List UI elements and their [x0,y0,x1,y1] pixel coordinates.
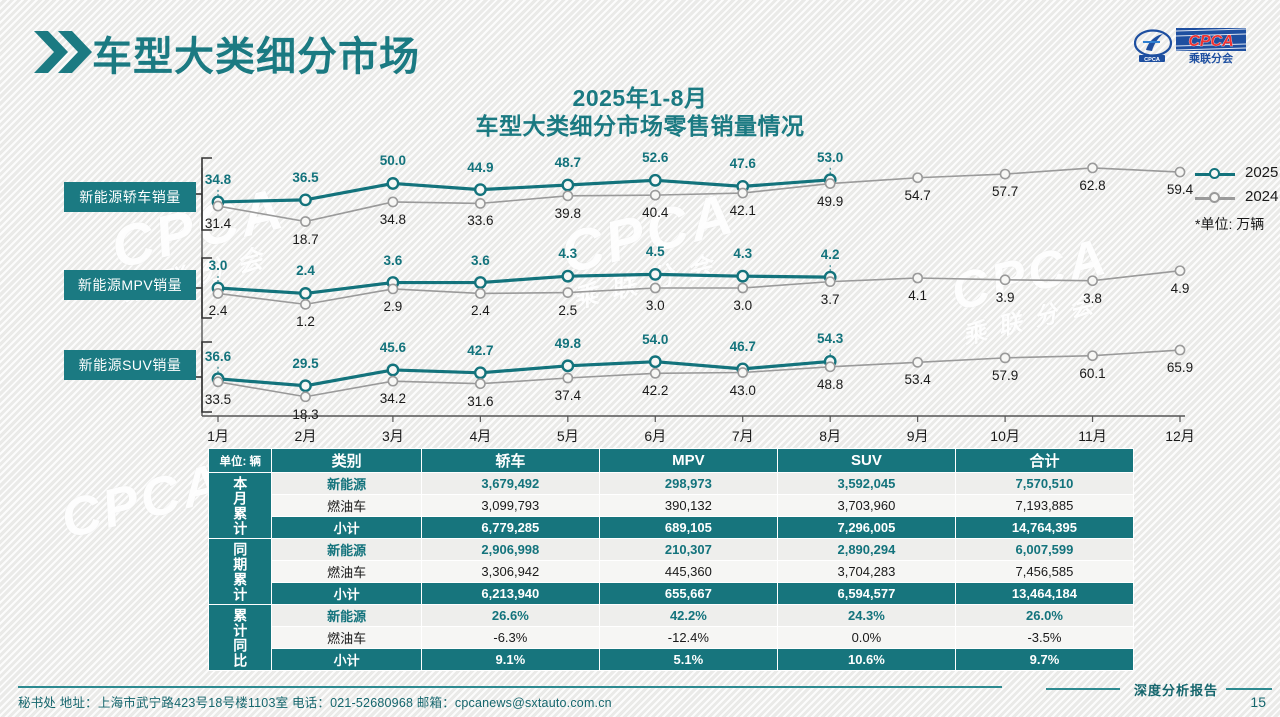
data-label-2024: 42.1 [730,203,756,218]
x-axis-tick-label: 1月 [207,426,229,446]
table-cell-value: 26.0% [955,605,1133,627]
table-col-total: 合计 [955,449,1133,473]
x-axis-tick-label: 7月 [732,426,754,446]
page-number: 15 [1250,694,1266,710]
table-cell-value: 3,592,045 [777,473,955,495]
table-cell-value: 9.1% [421,649,599,671]
page-header: 车型大类细分市场 CPCA CPCA 乘联分会 [0,0,1280,86]
data-label-2024: 54.7 [904,188,930,203]
data-label-2025: 50.0 [380,153,406,168]
legend-item-2025: 2025 [1195,162,1280,186]
table-col-category: 类别 [272,449,421,473]
legend-marker-2025 [1209,168,1220,179]
data-label-2025: 42.7 [467,343,493,358]
data-label-2025: 48.7 [555,155,581,170]
table-col-sedan: 轿车 [421,449,599,473]
multi-panel-line-chart: 新能源轿车销量 新能源MPV销量 新能源SUV销量 2025 2024 *单位:… [60,150,1220,440]
data-label-2024: 18.7 [292,232,318,247]
table-cell-value: 3,704,283 [777,561,955,583]
data-label-2025: 52.6 [642,150,668,165]
data-label-2024: 31.6 [467,394,493,409]
table-cell-value: 390,132 [599,495,777,517]
table-row: 燃油车3,306,942445,3603,704,2837,456,585 [209,561,1134,583]
data-label-2025: 34.8 [205,172,231,187]
data-label-2025: 45.6 [380,340,406,355]
cpca-logo-wordmark: CPCA 乘联分会 [1176,27,1246,64]
table-cell-value: 14,764,395 [955,517,1133,539]
table-cell-value: 2,906,998 [421,539,599,561]
table-cell-value: 6,779,285 [421,517,599,539]
table-row: 燃油车3,099,793390,1323,703,9607,193,885 [209,495,1134,517]
data-label-2024: 53.4 [904,372,930,387]
data-label-2024: 59.4 [1167,182,1193,197]
chart-unit-note: *单位: 万辆 [1195,214,1264,234]
table-cell-value: 7,456,585 [955,561,1133,583]
panel-label-sedan: 新能源轿车销量 [64,182,196,212]
data-label-2024: 3.0 [733,298,752,313]
table-group-label: 同期累计 [209,539,272,605]
table-row: 小计6,779,285689,1057,296,00514,764,395 [209,517,1134,539]
svg-text:乘联分会: 乘联分会 [1188,51,1234,64]
table-cell-value: 13,464,184 [955,583,1133,605]
table-cell-value: 6,213,940 [421,583,599,605]
data-label-2024: 57.7 [992,184,1018,199]
data-label-2024: 65.9 [1167,360,1193,375]
data-label-2024: 62.8 [1079,178,1105,193]
table-row: 累计同比新能源26.6%42.2%24.3%26.0% [209,605,1134,627]
x-axis-tick-label: 5月 [557,426,579,446]
data-label-2025: 36.5 [292,170,318,185]
table-cell-value: 24.3% [777,605,955,627]
legend-item-2024: 2024 [1195,186,1280,210]
table-cell-value: 7,570,510 [955,473,1133,495]
x-axis-tick-label: 6月 [644,426,666,446]
data-label-2025: 29.5 [292,356,318,371]
data-label-2025: 47.6 [730,156,756,171]
footer-brand-rule-left [1046,688,1120,690]
table-cell-category: 新能源 [272,605,421,627]
legend-marker-2024 [1209,192,1220,203]
table-cell-category: 小计 [272,517,421,539]
summary-table: 单位: 辆 类别 轿车 MPV SUV 合计 本月累计新能源3,679,4922… [208,448,1134,671]
chart-canvas [60,150,1220,440]
data-label-2024: 3.9 [996,290,1015,305]
x-axis-tick-label: 12月 [1165,426,1195,446]
data-label-2025: 4.3 [733,246,752,261]
x-axis-tick-label: 11月 [1078,426,1107,446]
table-cell-value: 3,306,942 [421,561,599,583]
data-label-2024: 18.3 [292,407,318,422]
x-axis-tick-label: 8月 [819,426,841,446]
table-cell-value: 3,099,793 [421,495,599,517]
data-label-2025: 44.9 [467,160,493,175]
table-cell-value: 7,296,005 [777,517,955,539]
data-label-2024: 33.5 [205,392,231,407]
chart-legend: 2025 2024 [1195,162,1280,210]
table-cell-value: 445,360 [599,561,777,583]
table-cell-value: 6,594,577 [777,583,955,605]
data-label-2024: 4.1 [908,288,927,303]
cpca-logo-mark-icon: CPCA [1134,29,1172,62]
data-label-2025: 3.0 [209,258,228,273]
legend-label-2024: 2024 [1245,188,1278,205]
data-label-2024: 37.4 [555,388,581,403]
data-label-2024: 2.4 [471,303,490,318]
table-row: 燃油车-6.3%-12.4%0.0%-3.5% [209,627,1134,649]
data-label-2024: 2.5 [558,303,577,318]
data-label-2025: 3.6 [471,253,490,268]
data-label-2025: 4.3 [558,246,577,261]
data-label-2025: 53.0 [817,150,843,165]
data-label-2024: 2.4 [209,303,228,318]
x-axis-tick-label: 4月 [469,426,491,446]
footer-contact: 秘书处 地址：上海市武宁路423号18号楼1103室 电话：021-526809… [18,692,612,711]
table-col-suv: SUV [777,449,955,473]
chart-title: 2025年1-8月 车型大类细分市场零售销量情况 [0,84,1280,140]
table-cell-value: 9.7% [955,649,1133,671]
table-cell-value: 6,007,599 [955,539,1133,561]
table-cell-value: 298,973 [599,473,777,495]
table-cell-category: 燃油车 [272,561,421,583]
data-label-2024: 57.9 [992,368,1018,383]
table-cell-value: 26.6% [421,605,599,627]
footer-brand-rule-right [1226,688,1272,690]
cpca-logo: CPCA CPCA 乘联分会 [1134,27,1246,65]
data-label-2024: 33.6 [467,213,493,228]
data-label-2024: 3.7 [821,292,840,307]
panel-label-mpv: 新能源MPV销量 [64,270,196,300]
table-cell-value: 2,890,294 [777,539,955,561]
table-cell-category: 小计 [272,583,421,605]
table-cell-value: -6.3% [421,627,599,649]
table-header-row: 单位: 辆 类别 轿车 MPV SUV 合计 [209,449,1134,473]
legend-label-2025: 2025 [1245,164,1278,181]
table-row: 本月累计新能源3,679,492298,9733,592,0457,570,51… [209,473,1134,495]
data-label-2024: 49.9 [817,194,843,209]
data-label-2025: 54.0 [642,332,668,347]
data-label-2024: 43.0 [730,383,756,398]
table-cell-value: 689,105 [599,517,777,539]
svg-text:CPCA: CPCA [1188,33,1233,50]
summary-table-container: 单位: 辆 类别 轿车 MPV SUV 合计 本月累计新能源3,679,4922… [208,448,1134,671]
data-label-2025: 46.7 [730,339,756,354]
data-label-2024: 60.1 [1079,366,1105,381]
table-row: 小计9.1%5.1%10.6%9.7% [209,649,1134,671]
data-label-2025: 36.6 [205,349,231,364]
data-label-2024: 39.8 [555,206,581,221]
data-label-2024: 3.0 [646,298,665,313]
svg-text:CPCA: CPCA [1144,57,1160,62]
footer-brand: 深度分析报告 [1134,680,1218,699]
table-body: 本月累计新能源3,679,492298,9733,592,0457,570,51… [209,473,1134,671]
table-row: 小计6,213,940655,6676,594,57713,464,184 [209,583,1134,605]
x-axis-tick-label: 2月 [295,426,317,446]
table-group-label: 累计同比 [209,605,272,671]
data-label-2025: 4.5 [646,244,665,259]
panel-label-suv: 新能源SUV销量 [64,350,196,380]
data-label-2024: 40.4 [642,205,668,220]
data-label-2025: 2.4 [296,263,315,278]
data-label-2025: 49.8 [555,336,581,351]
data-label-2024: 34.2 [380,391,406,406]
table-cell-value: 42.2% [599,605,777,627]
table-cell-value: 210,307 [599,539,777,561]
data-label-2024: 1.2 [296,314,315,329]
x-axis-tick-label: 3月 [382,426,404,446]
table-cell-value: 3,679,492 [421,473,599,495]
table-cell-category: 小计 [272,649,421,671]
data-label-2024: 48.8 [817,377,843,392]
page-title: 车型大类细分市场 [92,24,420,82]
data-label-2025: 3.6 [384,253,403,268]
table-cell-value: -12.4% [599,627,777,649]
table-group-label: 本月累计 [209,473,272,539]
x-axis-tick-label: 10月 [990,426,1020,446]
data-label-2024: 34.8 [380,212,406,227]
chart-title-line1: 2025年1-8月 [0,84,1280,112]
table-cell-category: 新能源 [272,473,421,495]
table-cell-category: 新能源 [272,539,421,561]
watermark-cpca-4: CPCA [55,451,230,551]
table-cell-value: 655,667 [599,583,777,605]
table-unit-label: 单位: 辆 [209,449,272,473]
chart-title-line2: 车型大类细分市场零售销量情况 [0,112,1280,140]
x-axis-tick-label: 9月 [907,426,929,446]
table-cell-value: 0.0% [777,627,955,649]
table-row: 同期累计新能源2,906,998210,3072,890,2946,007,59… [209,539,1134,561]
double-chevron-icon [32,29,94,75]
data-label-2024: 42.2 [642,383,668,398]
table-cell-value: 10.6% [777,649,955,671]
table-cell-value: 3,703,960 [777,495,955,517]
data-label-2025: 54.3 [817,331,843,346]
table-cell-category: 燃油车 [272,495,421,517]
table-cell-value: -3.5% [955,627,1133,649]
table-cell-value: 7,193,885 [955,495,1133,517]
table-col-mpv: MPV [599,449,777,473]
data-label-2025: 4.2 [821,247,840,262]
data-label-2024: 3.8 [1083,291,1102,306]
table-cell-category: 燃油车 [272,627,421,649]
data-label-2024: 4.9 [1171,281,1190,296]
data-label-2024: 2.9 [384,299,403,314]
footer-divider [18,686,1002,688]
table-cell-value: 5.1% [599,649,777,671]
data-label-2024: 31.4 [205,216,231,231]
